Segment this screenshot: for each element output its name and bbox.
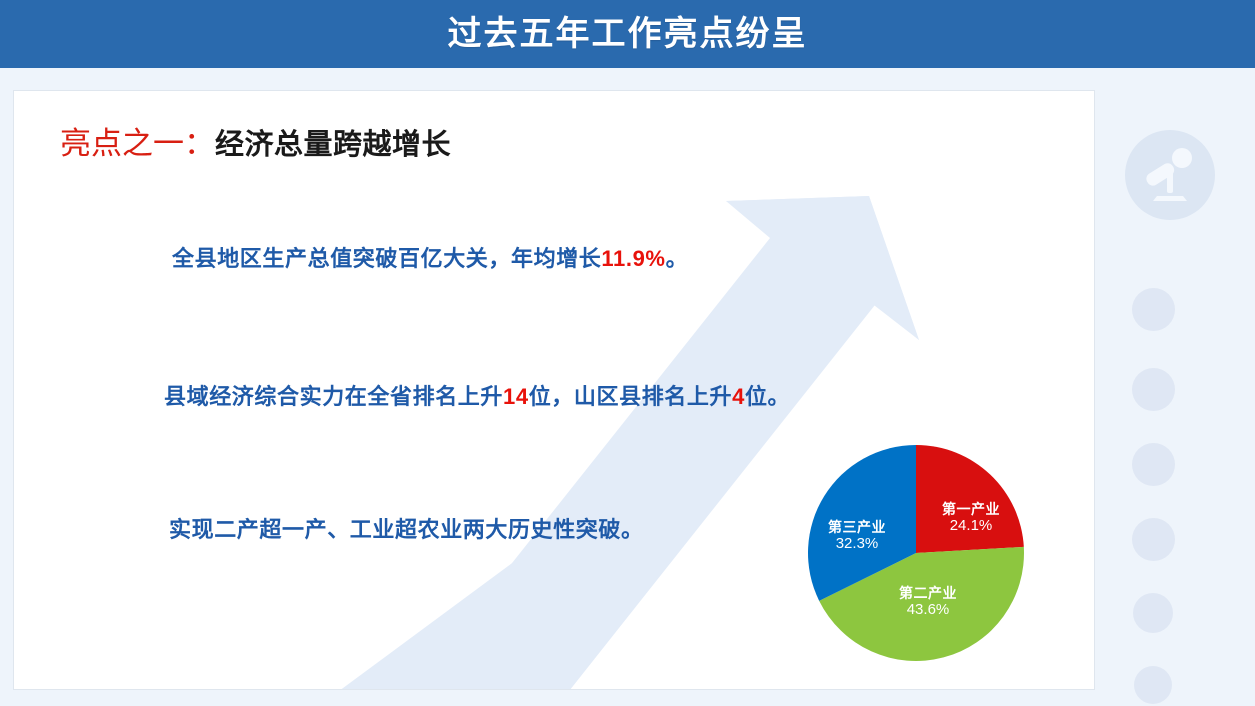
bullet-3-segment-0: 实现二产超一产、工业超农业两大历史性突破。 bbox=[169, 517, 644, 542]
bullet-1-segment-2: 。 bbox=[666, 246, 689, 271]
section-heading: 亮点之一：经济总量跨越增长 bbox=[60, 129, 451, 160]
slide-content-panel: 亮点之一：经济总量跨越增长 全县地区生产总值突破百亿大关，年均增长11.9%。 … bbox=[13, 90, 1095, 690]
bullet-2-segment-2: 位，山区县排名上升 bbox=[529, 384, 732, 409]
pie-chart-svg bbox=[807, 444, 1025, 662]
bullet-line-3: 实现二产超一产、工业超农业两大历史性突破。 bbox=[169, 519, 644, 541]
bullet-2-segment-3: 4 bbox=[732, 384, 745, 409]
bullet-line-1: 全县地区生产总值突破百亿大关，年均增长11.9%。 bbox=[172, 248, 688, 270]
header-banner: 过去五年工作亮点纷呈 bbox=[0, 0, 1255, 68]
bullet-1-segment-1: 11.9% bbox=[601, 246, 665, 271]
bullet-1-segment-0: 全县地区生产总值突破百亿大关，年均增长 bbox=[172, 246, 601, 271]
bullet-2-segment-4: 位。 bbox=[745, 384, 790, 409]
bullet-2-segment-0: 县域经济综合实力在全省排名上升 bbox=[164, 384, 503, 409]
heading-main: 经济总量跨越增长 bbox=[215, 129, 451, 161]
pie-slice bbox=[916, 445, 1024, 553]
heading-prefix: 亮点之一： bbox=[60, 126, 215, 162]
bullet-2-segment-1: 14 bbox=[503, 384, 529, 409]
page-title: 过去五年工作亮点纷呈 bbox=[448, 17, 808, 51]
industry-structure-pie-chart: 第一产业 24.1% 第二产业 43.6% 第三产业 32.3% bbox=[807, 444, 1025, 662]
bullet-line-2: 县域经济综合实力在全省排名上升14位，山区县排名上升4位。 bbox=[164, 386, 790, 408]
